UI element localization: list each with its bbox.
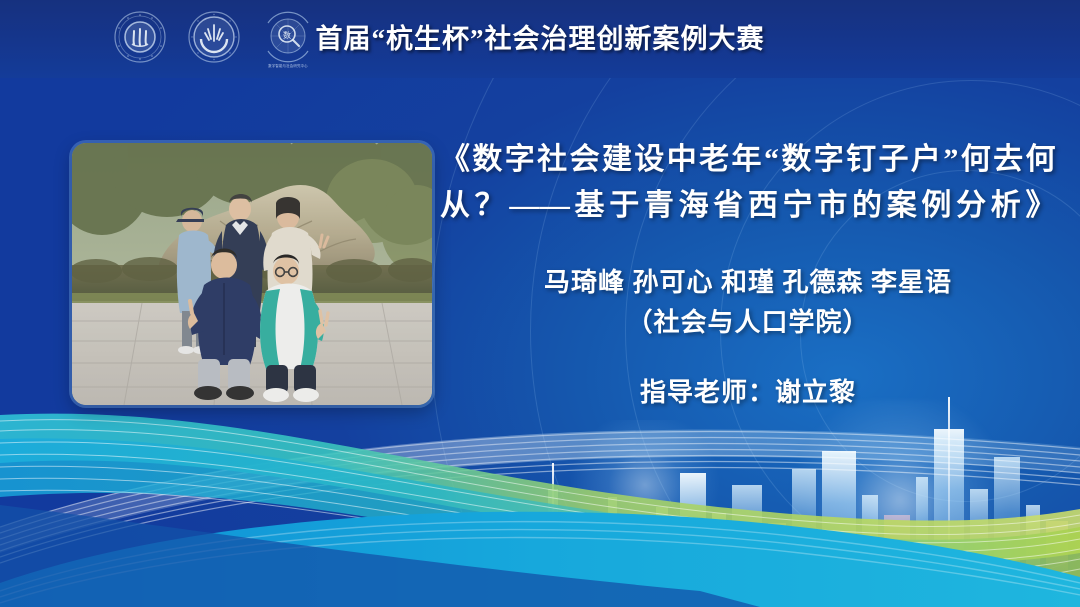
advisor-line: 指导老师：谢立黎	[440, 372, 1056, 409]
ribbon-wave-decoration	[0, 377, 1080, 607]
paper-title: 《数字社会建设中老年“数字钉子户”何去何从？——基于青海省西宁市的案例分析》	[440, 137, 1056, 229]
presentation-slide: 数 数字智能与社会研究中心 首届“杭生杯”社会治理创新案例大赛	[0, 0, 1080, 607]
affiliation: （社会与人口学院）	[440, 302, 1056, 339]
research-center-caption: 数字智能与社会研究中心	[260, 63, 316, 68]
event-title: 首届“杭生杯”社会治理创新案例大赛	[0, 17, 1080, 56]
team-photo	[72, 143, 432, 405]
author-names: 马琦峰 孙可心 和瑾 孔德森 李星语	[440, 262, 1056, 299]
